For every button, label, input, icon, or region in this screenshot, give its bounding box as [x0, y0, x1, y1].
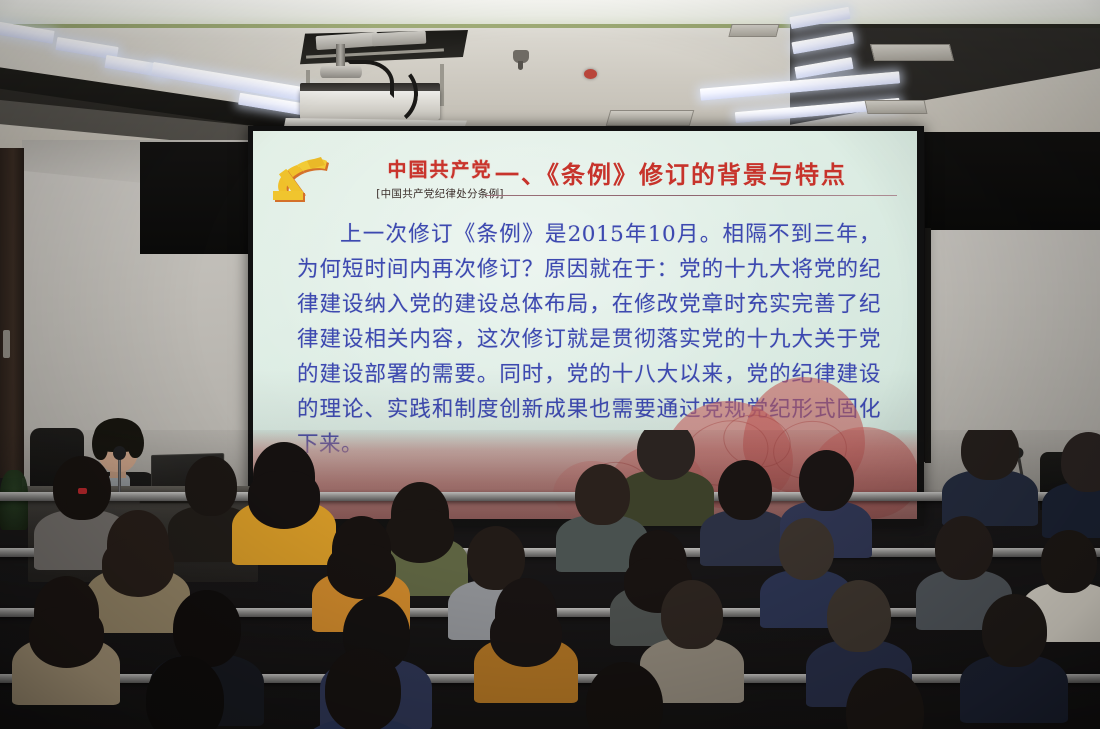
- ceiling-sprinkler-icon: [513, 50, 529, 63]
- ceiling-vent: [606, 110, 695, 126]
- audience-member-head: [325, 648, 401, 729]
- wall-board-left: [140, 142, 256, 254]
- audience-member-hair: [29, 607, 104, 668]
- audience-member-head: [779, 518, 834, 580]
- audience-member: [300, 648, 426, 729]
- audience-member-head: [1061, 432, 1100, 492]
- audience-member-head: [935, 516, 993, 580]
- audience-member: [960, 594, 1068, 712]
- audience-member: [1042, 432, 1100, 528]
- hair-clip-icon: [78, 488, 87, 494]
- seat-rail: [0, 492, 1100, 501]
- audience-member-head: [185, 456, 237, 516]
- audience-area: [0, 430, 1100, 729]
- audience-member: [560, 662, 688, 729]
- ceiling-top-strip: [0, 0, 1100, 26]
- wall-board-right: [920, 132, 1100, 230]
- audience-member-head: [661, 580, 723, 649]
- side-wall-panel: [0, 148, 24, 478]
- audience-member: [820, 668, 950, 729]
- audience-member-head: [982, 594, 1047, 667]
- ceiling-vent: [865, 100, 928, 114]
- party-emblem-icon: [267, 151, 337, 207]
- audience-member-head: [575, 464, 630, 525]
- slide-title: 一、《条例》修订的背景与特点: [495, 155, 895, 190]
- audience-member-head: [718, 460, 772, 520]
- audience-member: [942, 430, 1038, 516]
- audience-member-hair: [327, 544, 396, 599]
- audience-member-head: [799, 450, 854, 511]
- audience-member: [12, 576, 120, 694]
- slide-title-underline: [485, 195, 897, 196]
- ceiling-vent: [728, 24, 779, 37]
- smoke-detector-icon: [584, 69, 597, 79]
- audience-member-hair: [490, 608, 562, 667]
- audience-member-head: [846, 668, 924, 729]
- audience-member-head: [586, 662, 663, 729]
- audience-member-head: [827, 580, 891, 652]
- audience-member-head: [961, 430, 1019, 480]
- audience-member: [120, 656, 250, 729]
- conference-room-screenshot: 中国共产党 [中国共产党纪律处分条例] 一、《条例》修订的背景与特点 上一次修订…: [0, 0, 1100, 729]
- audience-member-hair: [248, 471, 320, 529]
- audience-member-head: [146, 656, 224, 729]
- projector-frame-bar: [440, 64, 444, 106]
- screen-side-frame: [925, 228, 931, 463]
- audience-member-head: [1041, 530, 1097, 593]
- ceiling-vent: [870, 44, 954, 61]
